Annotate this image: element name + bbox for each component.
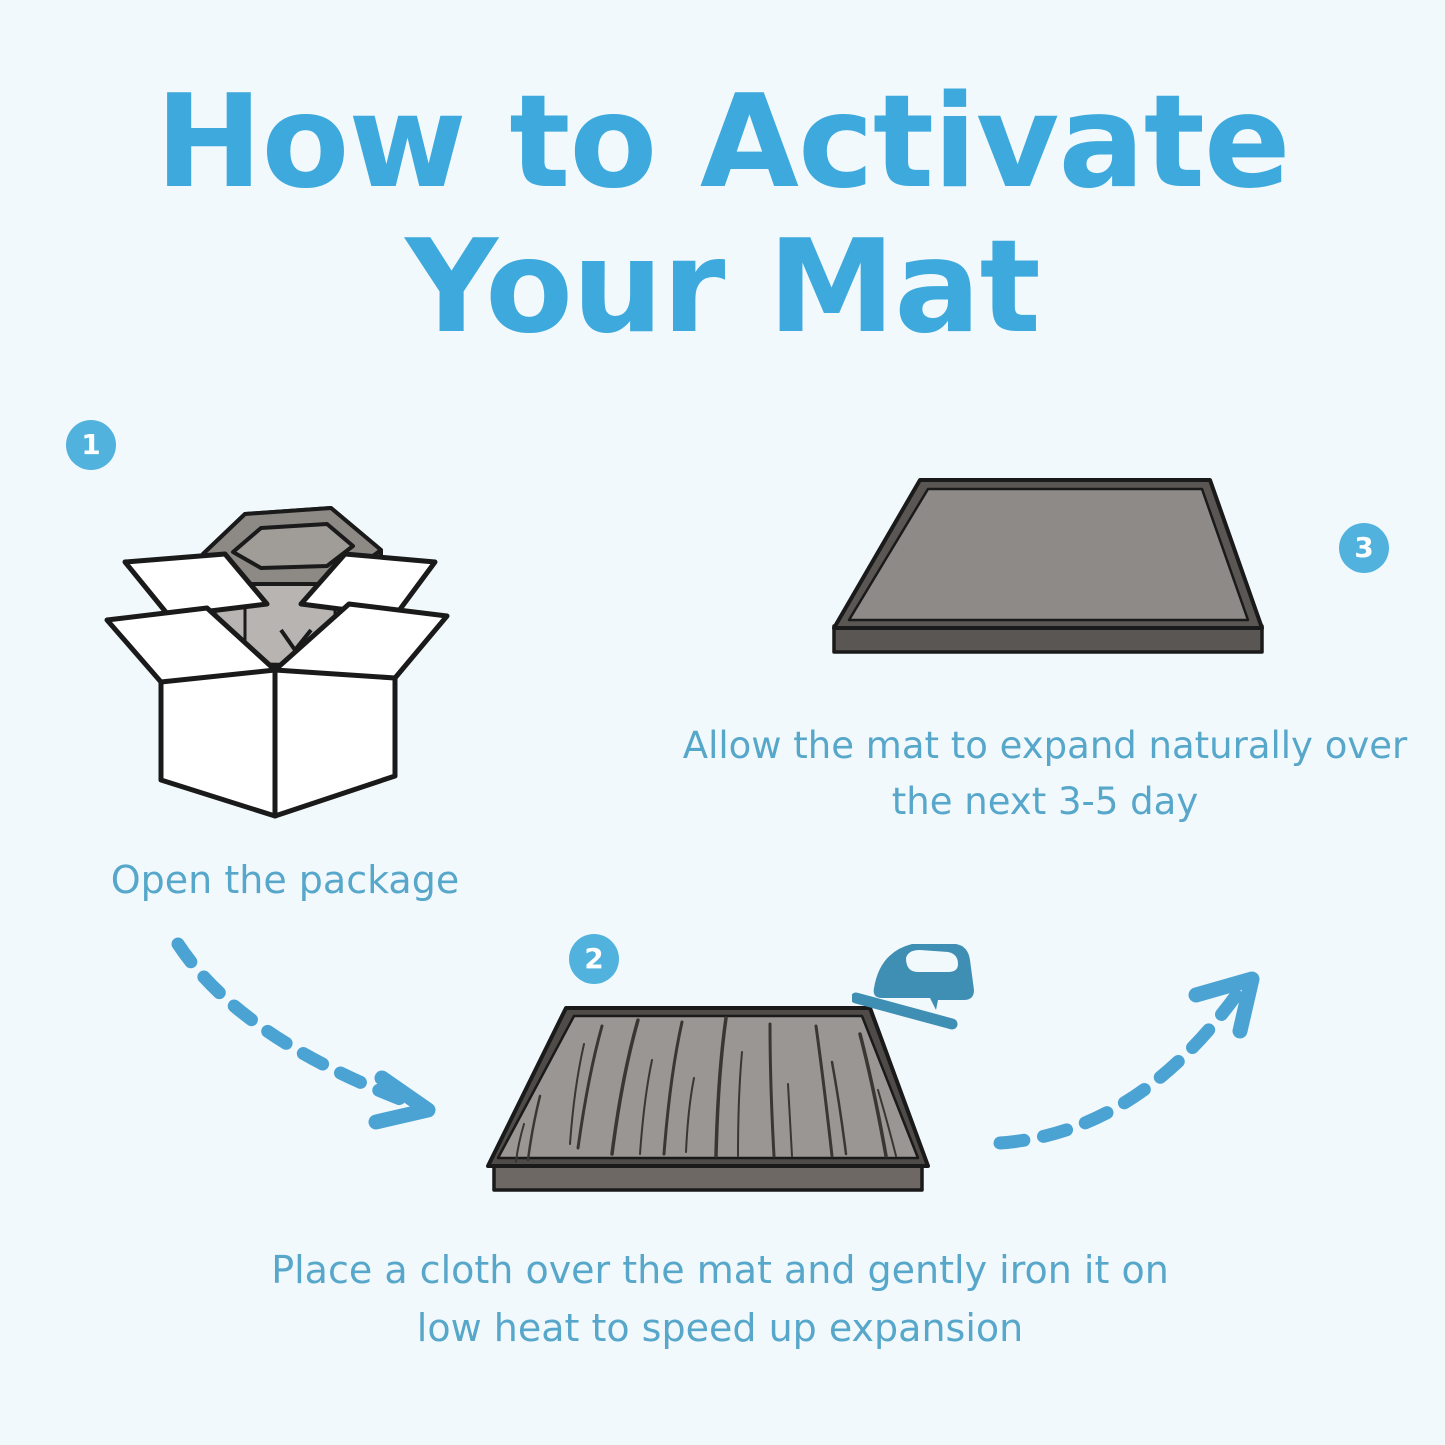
dashed-curved-arrow-down-right-icon xyxy=(170,930,470,1130)
step-caption-2: Place a cloth over the mat and gently ir… xyxy=(265,1242,1175,1358)
open-box-illustration xyxy=(95,480,455,830)
iron-handle-cutout xyxy=(906,950,958,972)
step-number-badge-3: 3 xyxy=(1339,523,1389,573)
page-title-line-2: Your Mat xyxy=(0,223,1445,354)
open-box-svg xyxy=(95,480,455,830)
flat-expanded-mat-illustration xyxy=(828,470,1308,670)
dashed-curved-arrow-up-right-icon xyxy=(990,965,1270,1155)
step-caption-1: Open the package xyxy=(30,852,540,910)
step-caption-3: Allow the mat to expand naturally over t… xyxy=(670,718,1420,830)
iron-icon xyxy=(852,930,987,1040)
flat-mat-svg xyxy=(828,470,1308,670)
page-title-line-1: How to Activate xyxy=(0,78,1445,209)
page-title: How to Activate Your Mat xyxy=(0,78,1445,353)
step-number-badge-1: 1 xyxy=(66,420,116,470)
step-number-badge-2: 2 xyxy=(569,934,619,984)
infographic-canvas: How to Activate Your Mat 1 xyxy=(0,0,1445,1445)
